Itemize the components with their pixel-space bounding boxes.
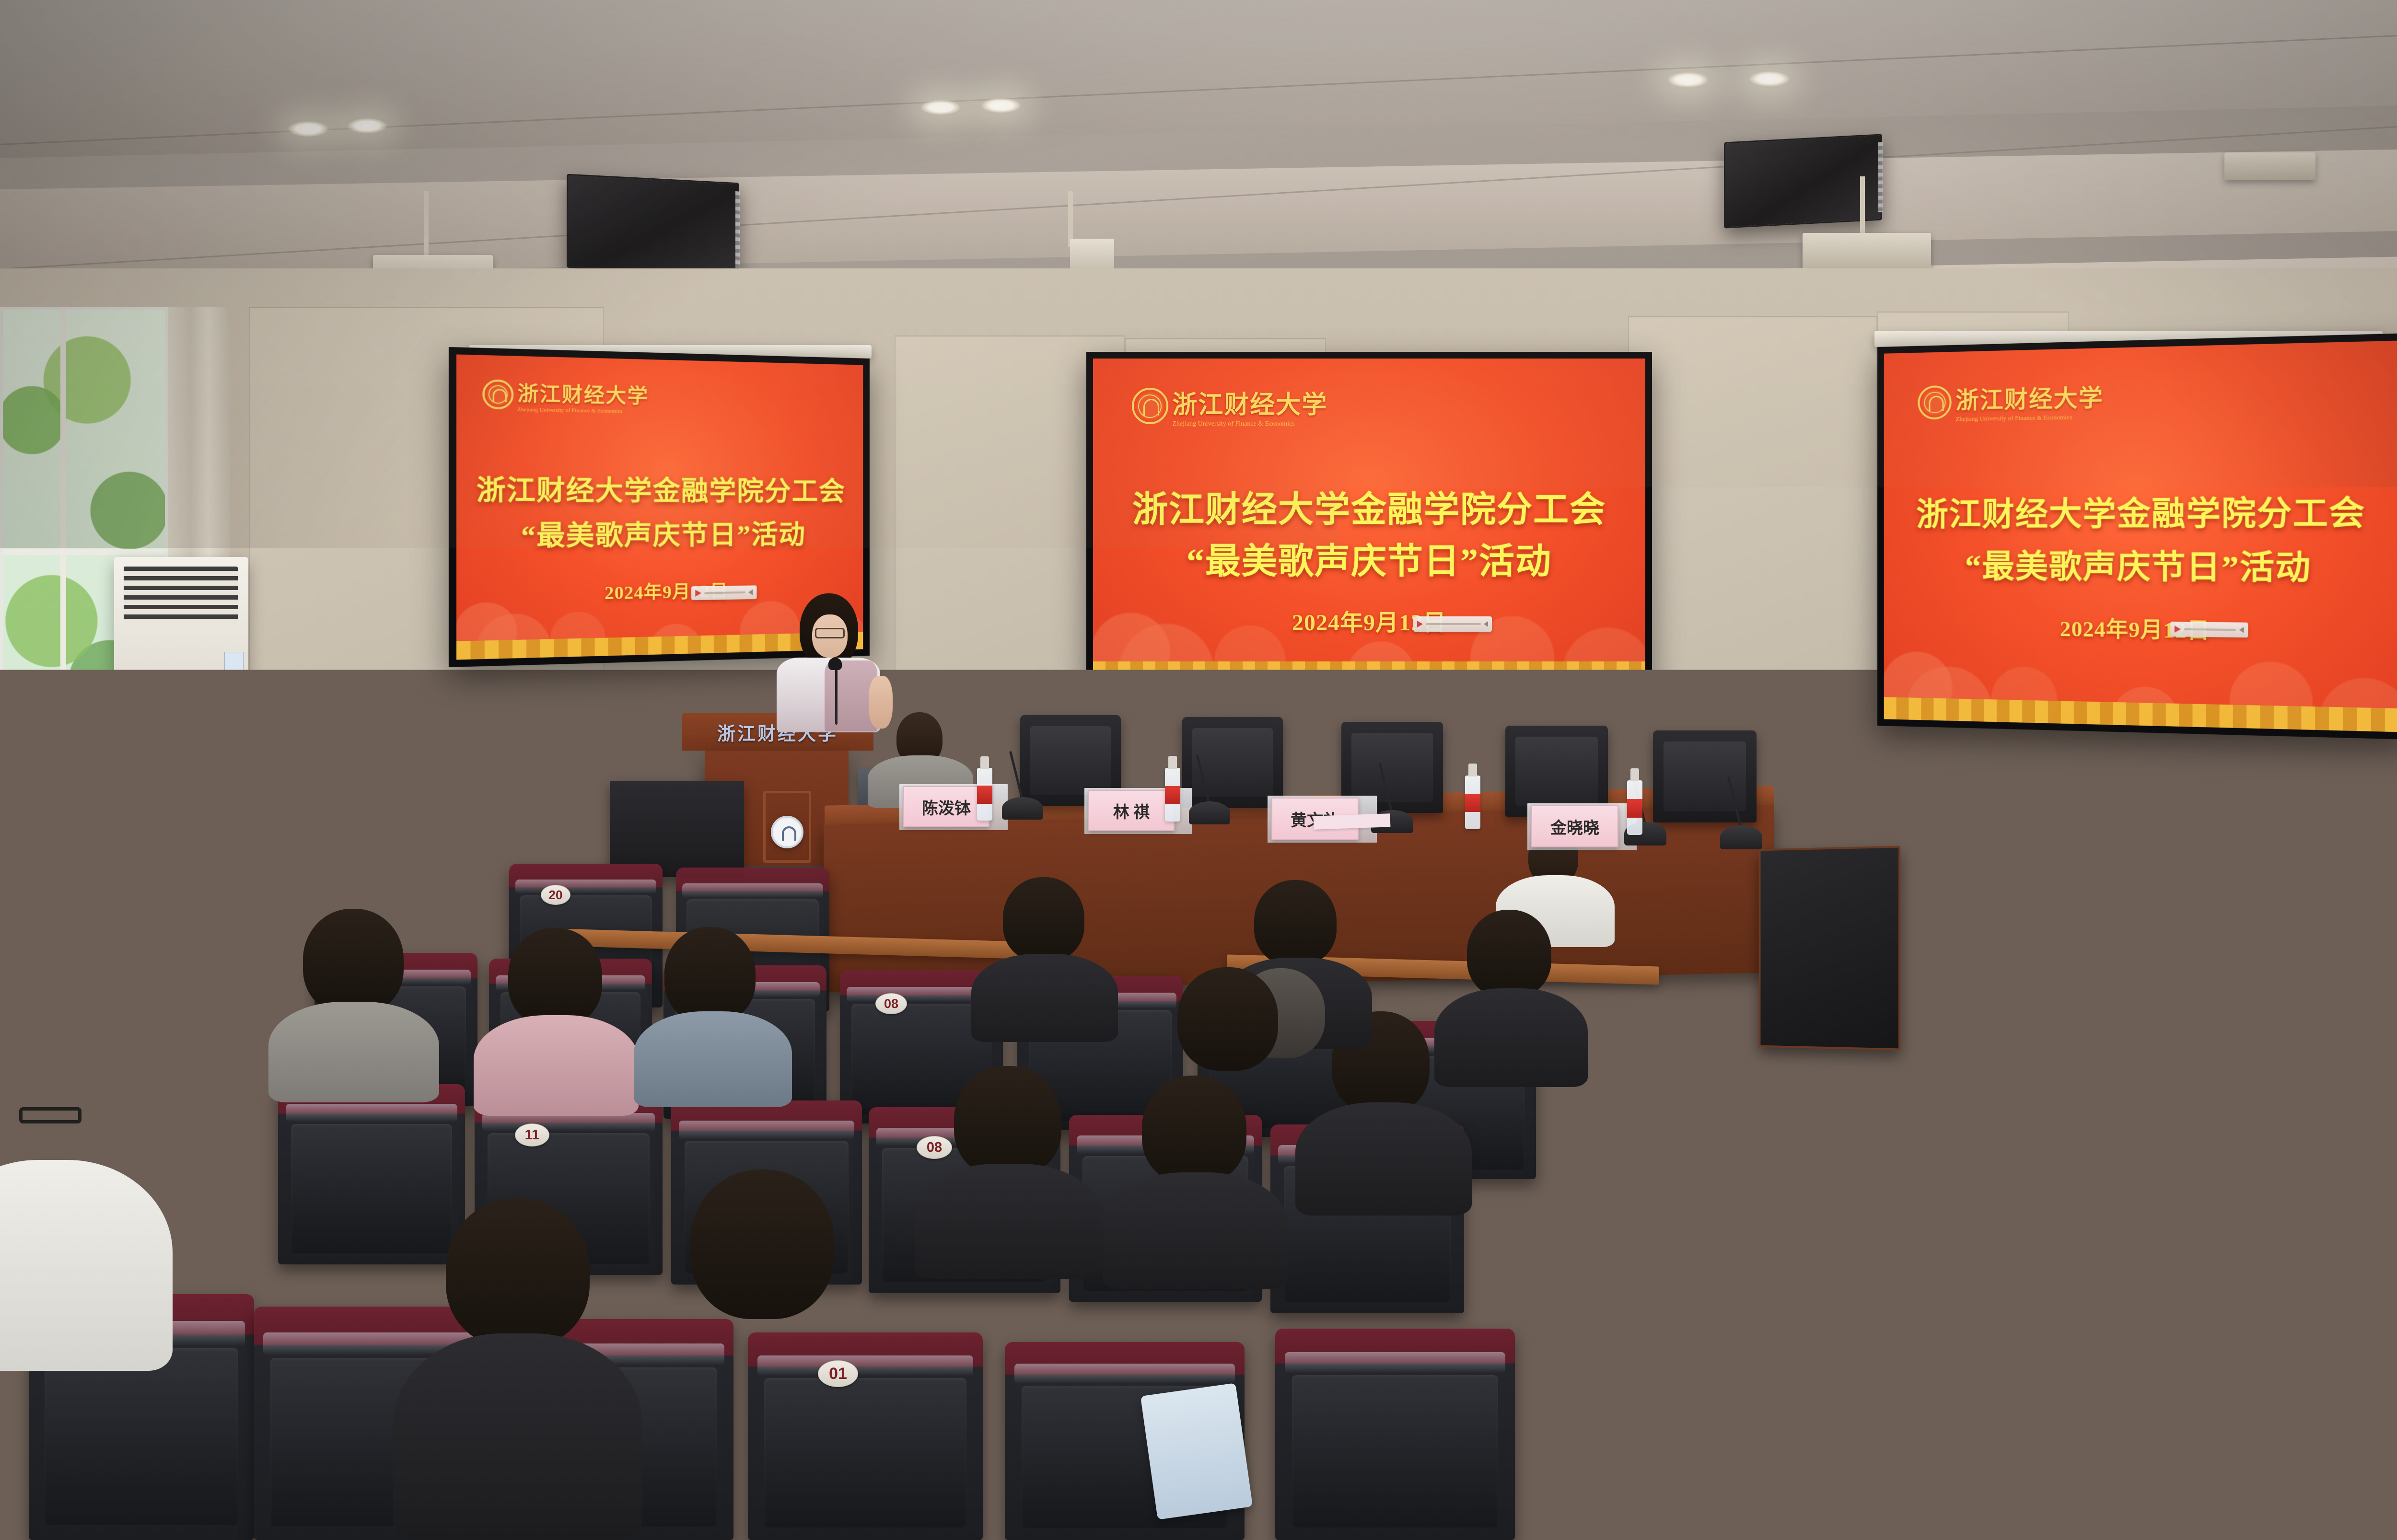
audience-glasses [19,1107,81,1123]
handheld-tablet[interactable] [1140,1383,1253,1519]
audience-shoulders [0,1160,173,1371]
audience-shoulders [1434,988,1588,1087]
seat-number-plate: 14 [365,877,395,897]
university-seal-icon [1918,385,1952,420]
seat-sheen [153,962,299,977]
progress-bar[interactable] [1426,623,1481,625]
audience-shoulders [915,1164,1102,1279]
water-bottle [977,768,992,821]
bottle-cap [1630,768,1639,781]
center-projection-screen: 浙江财经大学 Zhejiang University of Finance & … [1086,352,1652,687]
speaker-icon[interactable] [748,589,753,595]
play-icon[interactable] [695,590,701,597]
projector-mount [1070,239,1114,272]
ceiling-mount-arm [1860,176,1865,234]
university-seal-icon [1132,388,1168,424]
name-card: 林 祺 [1088,790,1175,831]
seat-sheen [515,880,656,894]
seat-cushion [1292,1375,1498,1528]
audience-head [303,909,404,1014]
bottle-cap [1168,756,1177,769]
audience-shoulders [634,1011,792,1107]
bottle-label [1165,786,1180,804]
auditorium-seat[interactable] [1275,1329,1515,1540]
banner-title-line-2: “最美歌声庆节日”活动 [1093,533,1645,584]
right-projection-screen: 浙江财经大学 Zhejiang University of Finance & … [1877,333,2397,740]
play-icon[interactable] [1417,621,1423,627]
banner-title-line-2: “最美歌声庆节日”活动 [456,513,863,554]
ceiling-band [0,144,2397,278]
water-bottle [1165,768,1180,822]
university-name-zh: 浙江财经大学 [1955,378,2104,415]
table-microphone [1002,753,1043,820]
audience-head [1177,967,1278,1071]
seat-number-plate: 08 [875,993,907,1014]
seat-number-plate: 14 [176,970,208,991]
audience-head [1003,877,1084,961]
podium-university-emblem-icon [771,816,803,848]
seat-cushion [45,1348,238,1525]
audience-shoulders [268,1002,439,1102]
microphone-base [1189,801,1230,824]
ceiling-fixture [2224,152,2316,180]
banner-title-line-1: 浙江财经大学金融学院分工会 [1884,486,2397,535]
presenter-arm [869,676,893,729]
air-conditioner-temperature: 26 [171,671,186,687]
auditorium-seat[interactable] [2344,968,2397,1123]
audience-shoulders [0,905,141,1001]
microphone-stem [1727,776,1743,830]
seat-number-plate: 08 [917,1136,952,1159]
media-player-chip[interactable] [1413,616,1492,632]
audience-head [12,819,110,919]
audience-shoulders [474,1015,639,1116]
bottle-label [1465,794,1480,812]
air-conditioner-grille [124,567,238,624]
speaker-icon[interactable] [2239,627,2244,633]
ceiling-downlight [288,121,329,137]
banner-date: 2024年9月12日 [1093,603,1645,637]
water-bottle [1465,776,1480,829]
auditorium-photo: EPSON 26 浙江财经大学 [0,0,2397,1540]
audience-head [508,928,602,1027]
audience-head [954,1066,1061,1177]
ceiling [0,0,2397,307]
seat-number-plate: 17 [2250,990,2281,1011]
audience-shoulders [1103,1172,1288,1289]
university-name-zh: 浙江财经大学 [517,377,649,409]
speaker-icon[interactable] [1484,621,1488,627]
audience-shoulders [1295,1102,1472,1216]
microphone-stem [1009,751,1024,801]
audience-head [690,1169,834,1319]
av-equipment-rack [610,781,744,877]
water-bottle [1627,780,1642,835]
name-card: 陈泼钵 [903,786,989,827]
hanging-speaker-right [1724,134,1882,228]
seat-sheen [682,883,823,898]
audience-head [1254,880,1337,965]
banner-title-line-2: “最美歌声庆节日”活动 [1884,540,2397,590]
microphone-base [1720,825,1762,849]
window-mullion [3,549,165,555]
ceiling-projector-mount-right [1803,233,1931,272]
audience-head [664,927,756,1023]
audience-shoulders [638,1307,892,1540]
seat-sheen [286,1104,458,1122]
air-conditioner-badge [224,652,244,672]
seat-number-plate: 07 [2189,1148,2222,1170]
bottle-label [1627,799,1642,818]
ceiling-downlight [1667,72,1709,88]
seat-cushion [2356,1002,2397,1113]
presenter-glasses [815,628,845,638]
ceiling-downlight [981,98,1021,113]
ceiling-panel-upper [0,0,2397,158]
gold-ornament-border [1093,661,1645,681]
banner-title-line-1: 浙江财经大学金融学院分工会 [456,467,863,508]
ceiling-downlight [1749,71,1790,87]
seat-sheen [679,1121,854,1139]
seat-number-plate: 17 [207,868,237,889]
university-name-en: Zhejiang University of Finance & Economi… [1172,420,1327,428]
progress-bar[interactable] [704,591,745,594]
progress-bar[interactable] [2184,628,2236,631]
banner-title-line-1: 浙江财经大学金融学院分工会 [1093,481,1645,532]
seat-number-plate: 11 [515,1123,549,1146]
seat-sheen [1014,1364,1235,1383]
name-card: 金晓晓 [1531,805,1618,847]
microphone-stem [1196,754,1211,806]
seat-number-plate: 08 [123,1106,157,1129]
table-microphone [1189,757,1230,824]
stage-floor-speaker [1759,846,1901,1051]
podium-microphone-stem [835,666,838,725]
audience-shoulders [971,954,1118,1042]
ceiling-downlight [920,100,961,115]
bottle-cap [1468,764,1477,776]
center-screen-face: 浙江财经大学 Zhejiang University of Finance & … [1093,359,1645,681]
university-seal-icon [482,380,513,410]
bottle-cap [980,756,989,769]
hanging-speaker-left [567,174,739,277]
seat-cushion [291,1124,452,1254]
audience-head [446,1198,590,1347]
auditorium-seat[interactable] [278,1084,465,1264]
university-name-zh: 浙江财经大学 [1172,384,1327,420]
media-player-chip[interactable] [2171,622,2248,637]
table-microphone [1720,779,1762,849]
ceiling-mount-arm [424,191,429,258]
play-icon[interactable] [2175,626,2181,633]
seat-sheen [2351,985,2397,1000]
seat-number-plate: 20 [541,885,570,905]
microphone-stem [1379,762,1394,814]
seat-sheen [2324,1147,2397,1167]
bottle-label [977,786,992,803]
microphone-base [1002,797,1043,820]
seat-sheen [341,872,478,886]
backpack [2196,1300,2339,1458]
audience-head [1467,910,1551,998]
seat-sheen [1285,1352,1505,1373]
right-screen-face: 浙江财经大学 Zhejiang University of Finance & … [1884,340,2397,732]
window-mullion [60,310,66,812]
ceiling-downlight [347,118,387,134]
podium-microphone-head [828,658,842,670]
audience-shoulders [393,1333,642,1540]
table-papers [1314,813,1391,830]
media-player-chip[interactable] [691,585,757,600]
audience-head [1142,1076,1246,1184]
